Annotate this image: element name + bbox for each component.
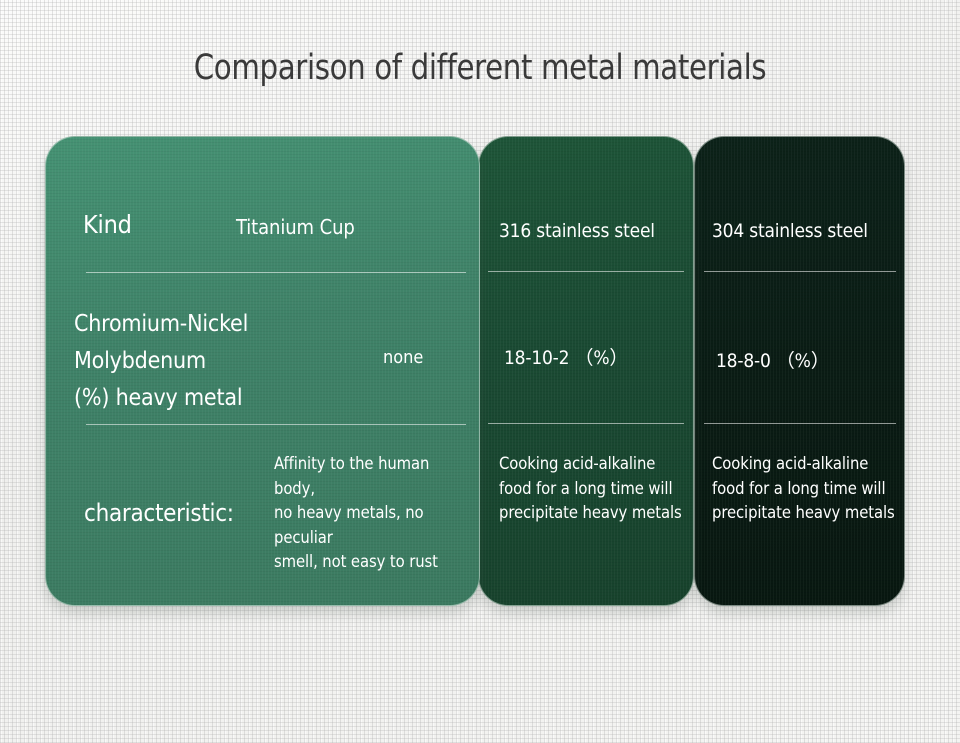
- cell-characteristic-316: Cooking acid-alkaline food for a long ti…: [499, 452, 689, 526]
- comparison-infographic: Comparison of different metal materials …: [0, 0, 960, 743]
- cell-characteristic-304: Cooking acid-alkaline food for a long ti…: [712, 452, 898, 526]
- row-divider-left-2: [86, 424, 466, 425]
- row-divider-right-1: [704, 271, 896, 272]
- row-label-characteristic: characteristic:: [84, 497, 234, 529]
- cell-characteristic-titanium: Affinity to the human body, no heavy met…: [274, 452, 470, 575]
- panel-texture-mid: [479, 137, 693, 605]
- cell-kind-titanium: Titanium Cup: [236, 213, 355, 241]
- cell-composition-316: 18-10-2 （%）: [504, 345, 628, 371]
- row-divider-mid-2: [488, 423, 684, 424]
- page-title: Comparison of different metal materials: [34, 46, 927, 90]
- row-divider-mid-1: [488, 271, 684, 272]
- cell-composition-titanium: none: [383, 345, 423, 371]
- column-panel-316: [478, 136, 694, 606]
- row-label-kind: Kind: [83, 209, 132, 241]
- row-label-chromium-nickel-molybdenum: Chromium-Nickel Molybdenum (%) heavy met…: [74, 306, 374, 417]
- cell-composition-304: 18-8-0 （%）: [716, 348, 830, 374]
- row-divider-left-1: [86, 272, 466, 273]
- cell-kind-304: 304 stainless steel: [712, 218, 868, 244]
- cell-kind-316: 316 stainless steel: [499, 218, 655, 244]
- row-divider-right-2: [704, 423, 896, 424]
